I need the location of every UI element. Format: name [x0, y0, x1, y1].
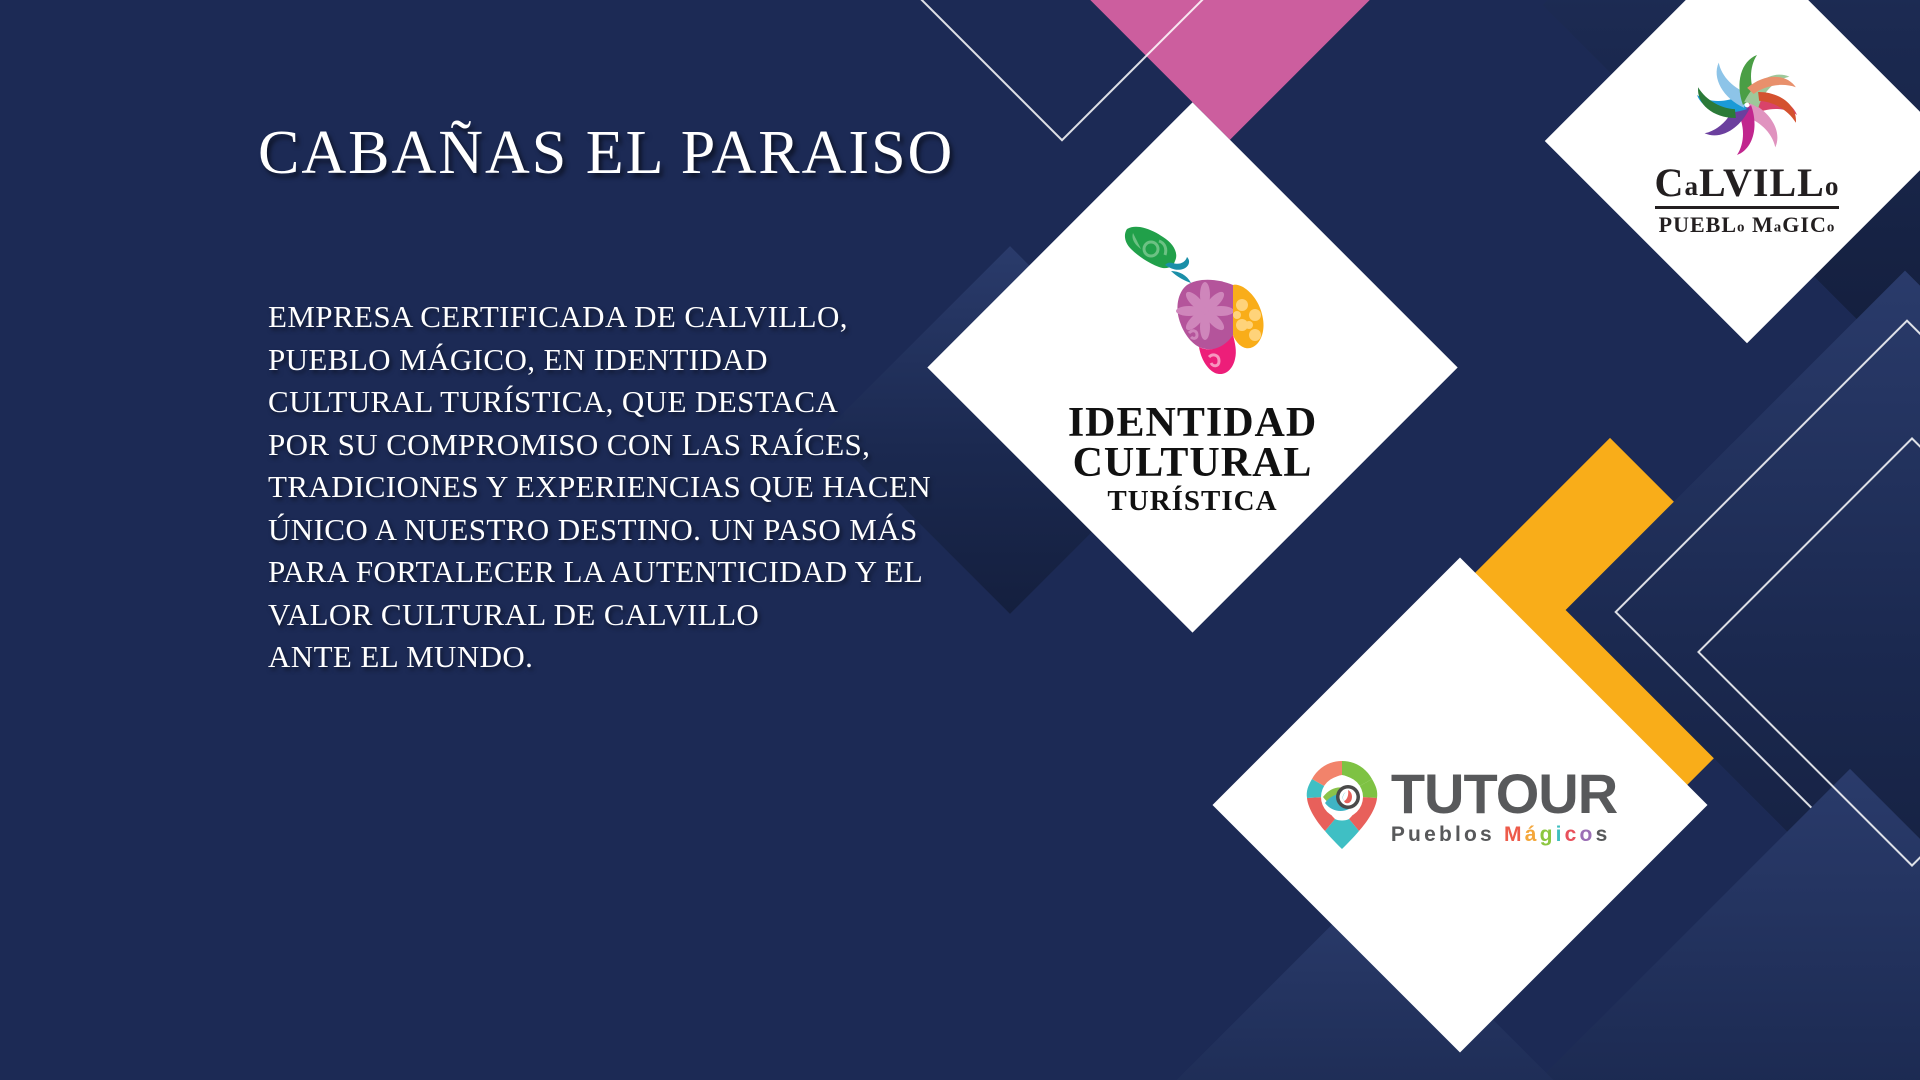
calvillo-wordmark-o: o: [1825, 170, 1840, 200]
tutour-sub-c: c: [1565, 823, 1580, 846]
tutour-sub-a: á: [1525, 823, 1540, 846]
calvillo-subtitle-o: o: [1737, 219, 1745, 235]
body-line: POR SU COMPROMISO CON LAS RAÍCES,: [268, 424, 1028, 467]
body-line: TRADICIONES Y EXPERIENCIAS QUE HACEN: [268, 466, 1028, 509]
tutour-sub-o: o: [1580, 823, 1596, 846]
calvillo-wordmark-text: C: [1655, 160, 1685, 205]
calvillo-wordmark: CaLVILLo: [1655, 163, 1840, 209]
tutour-sub-s: s: [1596, 823, 1611, 846]
logo-card-identidad-inner: IDENTIDAD CULTURAL TURÍSTICA: [1005, 180, 1380, 555]
latin-america-map-icon: [1109, 219, 1277, 397]
tutour-sub-g: g: [1540, 823, 1556, 846]
tutour-pin-icon: [1303, 759, 1381, 851]
calvillo-logo: CaLVILLo PUEBLo MaGICo: [1627, 46, 1867, 235]
tutour-sub-i: i: [1556, 823, 1565, 846]
identidad-line-2: CULTURAL: [1073, 443, 1313, 483]
calvillo-pinwheel-icon: [1687, 46, 1807, 158]
calvillo-subtitle-o2: o: [1827, 219, 1835, 235]
body-line: PUEBLO MÁGICO, EN IDENTIDAD: [268, 339, 1028, 382]
tutour-sub-m: M: [1504, 823, 1525, 846]
tutour-wordmark: TUTOUR: [1391, 766, 1617, 822]
body-line: PARA FORTALECER LA AUTENTICIDAD Y EL: [268, 551, 1028, 594]
calvillo-subtitle-p: PUEBL: [1659, 212, 1737, 237]
tutour-text-block: TUTOUR Pueblos Mágicos: [1391, 766, 1617, 845]
slide-root: CABAÑAS EL PARAISO EMPRESA CERTIFICADA D…: [0, 0, 1920, 1080]
logo-card-tutour-inner: TUTOUR Pueblos Mágicos: [1285, 630, 1635, 980]
calvillo-wordmark-rest: LVILL: [1699, 160, 1825, 205]
identidad-line-1: IDENTIDAD: [1068, 403, 1317, 443]
body-paragraph: EMPRESA CERTIFICADA DE CALVILLO, PUEBLO …: [268, 296, 1028, 679]
page-title: CABAÑAS EL PARAISO: [258, 118, 954, 189]
body-line: VALOR CULTURAL DE CALVILLO: [268, 594, 1028, 637]
body-line: EMPRESA CERTIFICADA DE CALVILLO,: [268, 296, 1028, 339]
calvillo-subtitle-a: a: [1774, 219, 1782, 235]
body-line: ANTE EL MUNDO.: [268, 636, 1028, 679]
body-line: ÚNICO A NUESTRO DESTINO. UN PASO MÁS: [268, 509, 1028, 552]
logo-card-identidad: IDENTIDAD CULTURAL TURÍSTICA: [927, 102, 1457, 632]
calvillo-wordmark-a: a: [1684, 170, 1699, 200]
calvillo-subtitle: PUEBLo MaGICo: [1659, 214, 1836, 236]
tutour-subtitle: Pueblos Mágicos: [1391, 824, 1617, 845]
logo-card-tutour: TUTOUR Pueblos Mágicos: [1213, 558, 1708, 1053]
tutour-sub-pueblos: Pueblos: [1391, 823, 1495, 846]
calvillo-subtitle-gic: GIC: [1782, 212, 1827, 237]
identidad-cultural-logo: IDENTIDAD CULTURAL TURÍSTICA: [1048, 219, 1338, 516]
identidad-line-3: TURÍSTICA: [1107, 486, 1277, 516]
logo-card-calvillo-inner: CaLVILLo PUEBLo MaGICo: [1604, 0, 1890, 284]
body-line: CULTURAL TURÍSTICA, QUE DESTACA: [268, 381, 1028, 424]
calvillo-subtitle-m: M: [1752, 212, 1774, 237]
tutour-logo: TUTOUR Pueblos Mágicos: [1303, 759, 1617, 851]
